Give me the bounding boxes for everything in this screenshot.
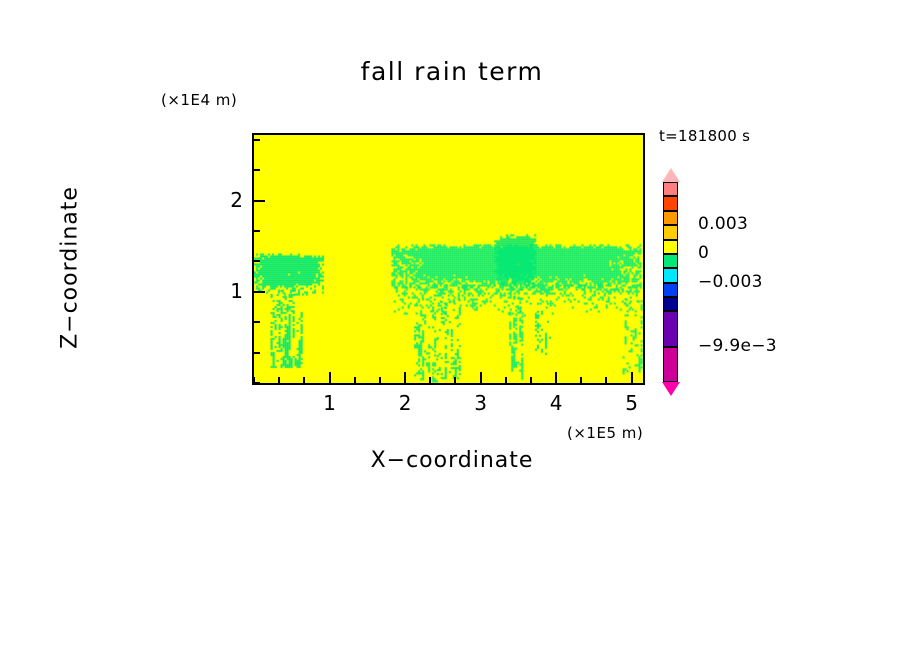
x-tick-major — [404, 372, 406, 383]
y-axis-title: Z−coordinate — [58, 138, 83, 398]
colorbar-band — [663, 311, 678, 346]
x-tick-major — [480, 372, 482, 383]
y-tick-major — [254, 200, 265, 202]
x-tick-minor — [505, 377, 507, 383]
y-tick-minor — [254, 230, 260, 232]
colorbar-ticklabel: 0 — [698, 243, 709, 263]
x-tick-minor — [580, 377, 582, 383]
y-ticklabel: 2 — [203, 188, 243, 212]
timestamp-annotation: t=181800 s — [659, 127, 750, 145]
y-ticklabel: 1 — [203, 279, 243, 303]
y-tick-minor — [254, 169, 260, 171]
heatmap-canvas — [254, 135, 643, 383]
colorbar-band — [663, 297, 678, 311]
x-ticklabel: 4 — [536, 391, 576, 415]
colorbar-bottom-arrow-icon — [662, 382, 680, 396]
y-tick-minor — [254, 321, 260, 323]
plot-area — [252, 133, 645, 385]
x-ticklabel: 2 — [385, 391, 425, 415]
colorbar-band — [663, 347, 678, 382]
x-ticklabel: 5 — [612, 391, 652, 415]
x-tick-minor — [379, 377, 381, 383]
y-tick-minor — [254, 139, 260, 141]
x-axis-title: X−coordinate — [0, 448, 904, 473]
x-tick-minor — [278, 377, 280, 383]
colorbar-band — [663, 268, 678, 282]
x-ticklabel: 1 — [310, 391, 350, 415]
colorbar-band — [663, 182, 678, 196]
x-tick-major — [555, 372, 557, 383]
colorbar-ticklabel: 0.003 — [698, 214, 748, 234]
x-tick-major — [329, 372, 331, 383]
colorbar-band — [663, 240, 678, 254]
x-axis-unit-label: (×1E5 m) — [567, 424, 643, 442]
x-tick-minor — [303, 377, 305, 383]
x-ticklabel: 3 — [461, 391, 501, 415]
page-title: fall rain term — [0, 57, 904, 86]
colorbar — [661, 168, 681, 396]
colorbar-ticklabel: −9.9e−3 — [698, 336, 777, 356]
y-tick-major — [254, 291, 265, 293]
colorbar-top-arrow-icon — [662, 168, 680, 182]
colorbar-band — [663, 211, 678, 225]
x-tick-minor — [530, 377, 532, 383]
y-tick-minor — [254, 382, 260, 384]
x-tick-major — [631, 372, 633, 383]
colorbar-band — [663, 283, 678, 297]
colorbar-band — [663, 225, 678, 239]
colorbar-ticklabel: −0.003 — [698, 272, 763, 292]
x-tick-minor — [354, 377, 356, 383]
x-tick-minor — [429, 377, 431, 383]
colorbar-band — [663, 254, 678, 268]
colorbar-band — [663, 196, 678, 210]
x-tick-minor — [605, 377, 607, 383]
y-tick-minor — [254, 260, 260, 262]
y-tick-minor — [254, 352, 260, 354]
x-tick-minor — [454, 377, 456, 383]
y-axis-unit-label: (×1E4 m) — [161, 91, 237, 109]
